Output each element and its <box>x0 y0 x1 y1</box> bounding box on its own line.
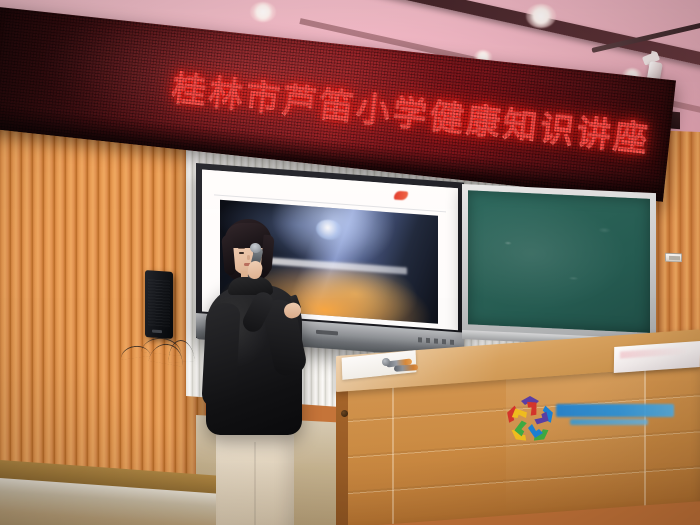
school-wordmark-pinyin <box>570 419 648 425</box>
presenter-trousers <box>216 424 294 525</box>
school-crest-logo <box>504 394 674 446</box>
presenter-eye-left <box>239 252 244 254</box>
display-control-buttons[interactable] <box>418 337 458 345</box>
school-wordmark <box>556 404 674 417</box>
presenter-arm-left <box>201 302 240 409</box>
star-chevron-icon <box>504 394 556 446</box>
podium-seam-left <box>392 374 394 524</box>
light-switch[interactable] <box>665 253 682 263</box>
podium-side-panel <box>336 378 348 525</box>
desk-microphone-head-icon <box>382 358 390 366</box>
light-switch-rocker[interactable] <box>669 256 680 260</box>
downlight-2 <box>526 4 556 28</box>
chalkboard-surface <box>468 190 650 333</box>
presenter <box>196 219 316 525</box>
podium-desk <box>336 356 700 525</box>
podium-cable-grommet <box>341 410 348 417</box>
slide-image-orb <box>316 219 342 241</box>
slide-logo-mark-icon <box>394 191 408 201</box>
photo-scene: 桂林市芦笛小学健康知识讲座 <box>0 0 700 525</box>
downlight-1 <box>250 2 276 22</box>
presenter-nose <box>247 255 250 260</box>
chalkboard <box>462 184 656 341</box>
wall-speaker <box>145 270 173 339</box>
slide-logo <box>394 190 450 206</box>
speaker-badge <box>152 330 162 334</box>
display-brand-logo-icon <box>316 330 338 336</box>
